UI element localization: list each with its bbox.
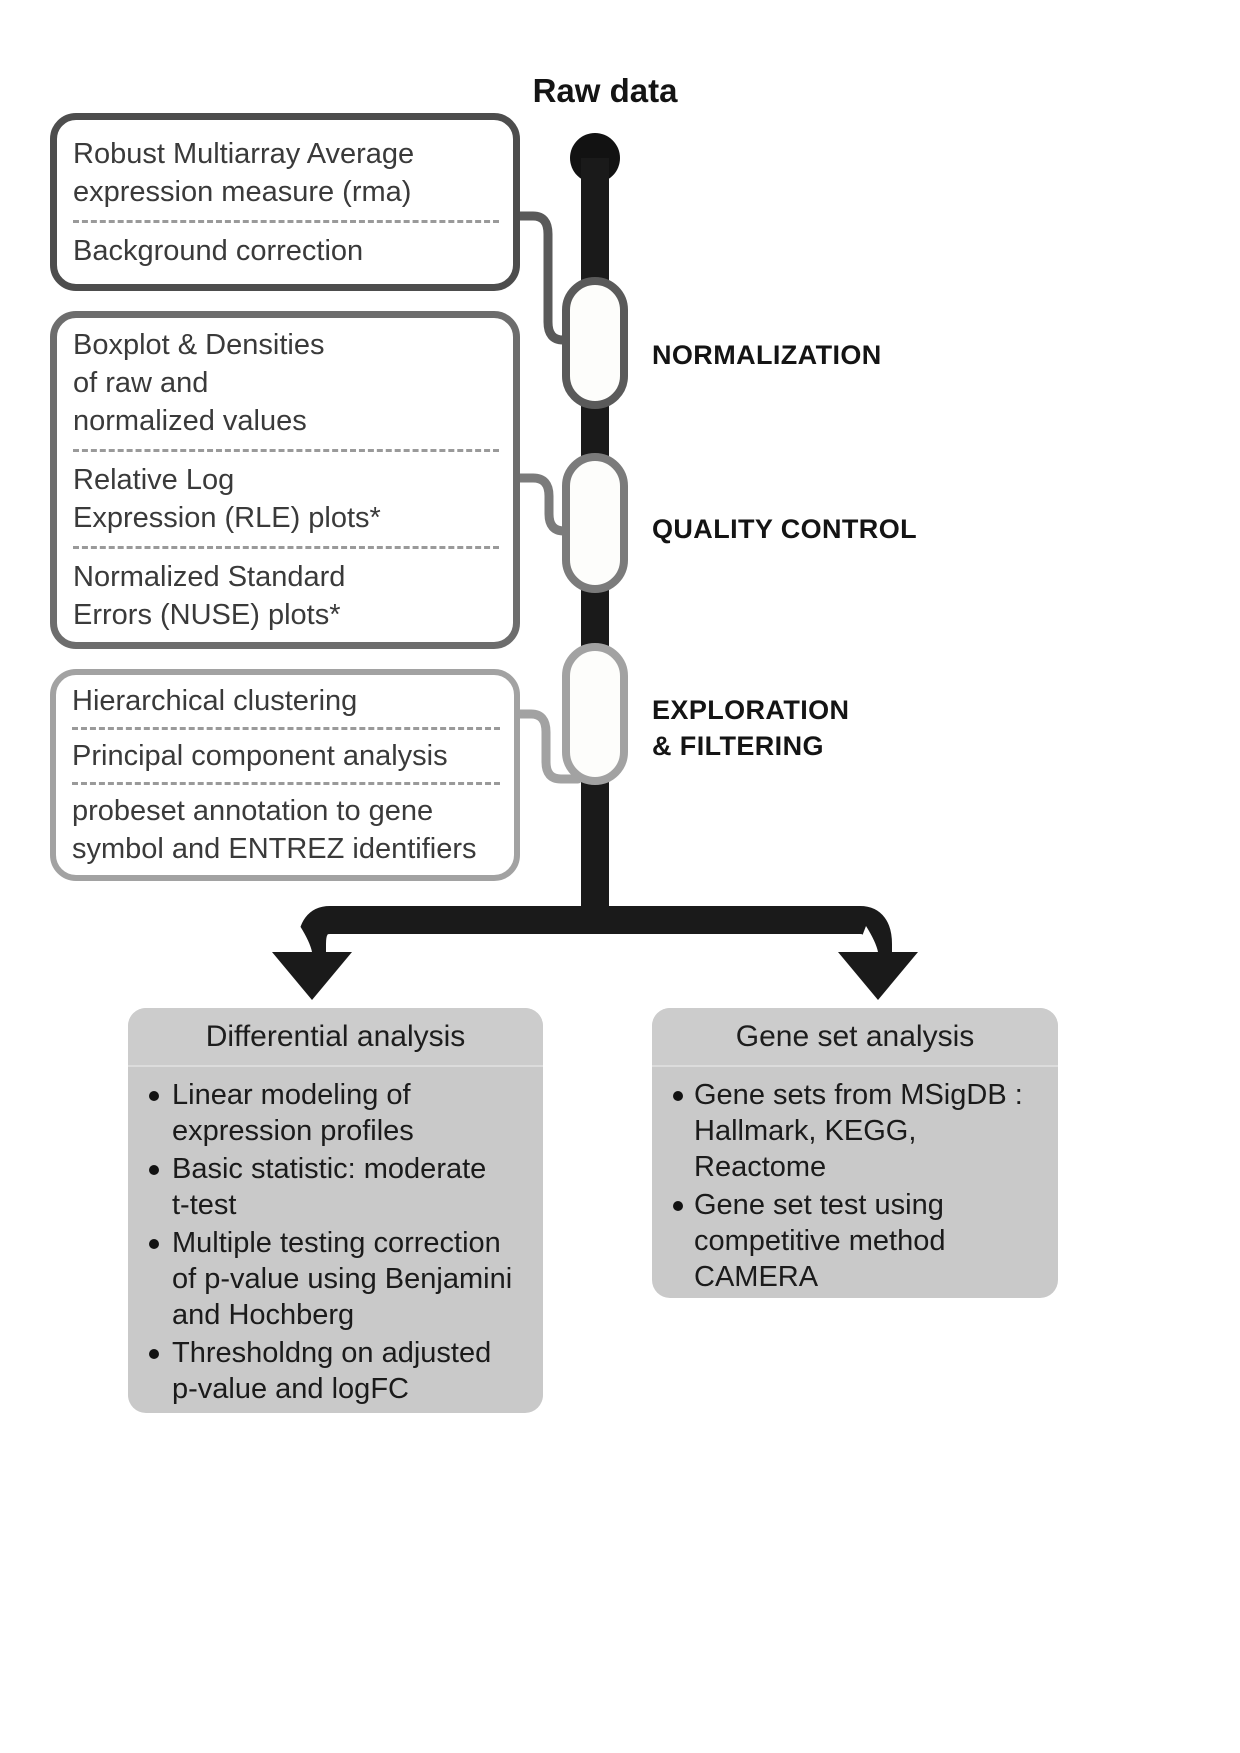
- output-header: Differential analysis: [128, 1008, 543, 1067]
- stage-node-exploration-filtering: [562, 643, 628, 785]
- stage-box-normalization: Robust Multiarray Average expression mea…: [50, 113, 520, 291]
- list-item: Thresholdng on adjusted p-value and logF…: [146, 1335, 525, 1407]
- spine-segment-3: [581, 774, 609, 914]
- stage-step: Hierarchical clustering: [72, 675, 500, 727]
- stage-step: Robust Multiarray Average expression mea…: [73, 126, 499, 220]
- stage-label-exploration-filtering: EXPLORATION & FILTERING: [652, 692, 849, 764]
- stage-box-exploration-filtering: Hierarchical clustering Principal compon…: [50, 669, 520, 881]
- list-item: Multiple testing correction of p-value u…: [146, 1225, 525, 1333]
- stage-step: probeset annotation to gene symbol and E…: [72, 782, 500, 875]
- output-bullet-list: Gene sets from MSigDB : Hallmark, KEGG, …: [652, 1067, 1058, 1315]
- page-title: Raw data: [455, 72, 755, 110]
- spine-segment-top: [581, 158, 609, 288]
- output-header: Gene set analysis: [652, 1008, 1058, 1067]
- stage-step: Relative Log Expression (RLE) plots*: [73, 449, 499, 546]
- split-bar: [330, 905, 860, 920]
- stage-node-normalization: [562, 277, 628, 409]
- output-box-gene-set-analysis: Gene set analysis Gene sets from MSigDB …: [652, 1008, 1058, 1298]
- list-item: Gene set test using competitive method C…: [670, 1187, 1040, 1295]
- list-item: Basic statistic: moderate t-test: [146, 1151, 525, 1223]
- stage-label-quality-control: QUALITY CONTROL: [652, 511, 917, 547]
- stage-step: Normalized Standard Errors (NUSE) plots*: [73, 546, 499, 643]
- stage-step: Boxplot & Densities of raw and normalize…: [73, 317, 499, 449]
- arrowhead-right: [838, 952, 918, 1000]
- arrowhead-left: [272, 952, 352, 1000]
- list-item: Gene sets from MSigDB : Hallmark, KEGG, …: [670, 1077, 1040, 1185]
- stage-node-quality-control: [562, 453, 628, 593]
- stage-box-quality-control: Boxplot & Densities of raw and normalize…: [50, 311, 520, 649]
- stage-step: Background correction: [73, 220, 499, 279]
- list-item: Linear modeling of expression profiles: [146, 1077, 525, 1149]
- stage-step: Principal component analysis: [72, 727, 500, 782]
- output-bullet-list: Linear modeling of expression profiles B…: [128, 1067, 543, 1427]
- workflow-diagram: Raw data Robust Multiarray Average expre…: [0, 0, 1240, 1753]
- output-box-differential-analysis: Differential analysis Linear modeling of…: [128, 1008, 543, 1413]
- stage-label-normalization: NORMALIZATION: [652, 337, 882, 373]
